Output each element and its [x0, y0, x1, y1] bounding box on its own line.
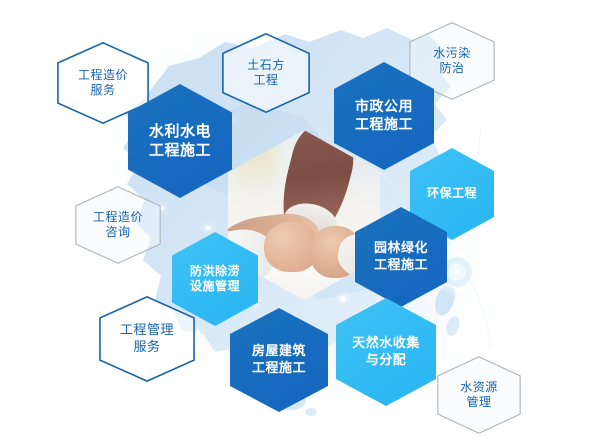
hexagon-label-line: 水资源 [460, 380, 498, 395]
hexagon-label-line: 水污染 [433, 46, 471, 61]
hexagon-label-line: 工程施工 [355, 116, 413, 134]
hexagon-shuiziyuan-guanli[interactable]: 水资源管理 [437, 356, 521, 434]
hexagon-label-line: 天然水收集 [352, 335, 420, 352]
hexagon-label-group: 工程管理服务 [120, 322, 174, 355]
hexagon-label-group: 房屋建筑工程施工 [252, 343, 306, 376]
hexagon-label-line: 设施管理 [190, 279, 240, 294]
hexagon-label-line: 咨询 [93, 225, 143, 240]
hexagon-label-line: 服务 [120, 339, 174, 356]
hexagon-label-line: 防洪除涝 [190, 264, 240, 279]
hexagon-label-line: 工程施工 [374, 257, 428, 274]
hexagon-label-line: 工程管理 [120, 322, 174, 339]
hexagon-label-group: 土石方工程 [247, 58, 285, 89]
hexagon-gongcheng-guanli-fuwu[interactable]: 工程管理服务 [99, 296, 195, 382]
hexagon-label-line: 环保工程 [427, 186, 477, 201]
hexagon-label-line: 园林绿化 [374, 240, 428, 257]
bokeh-dot [498, 122, 502, 126]
poster-canvas: 工程造价服务土石方工程水污染防治水利水电工程施工市政公用工程施工环保工程工程造价… [0, 0, 600, 439]
hexagon-tianranshui-shouji-yu-fenpei[interactable]: 天然水收集与分配 [336, 298, 436, 406]
bokeh-dot [206, 226, 210, 230]
hexagon-fangwu-jianzhu-gongcheng-shigong[interactable]: 房屋建筑工程施工 [230, 308, 328, 412]
hexagon-gongcheng-zaojia-zixun[interactable]: 工程造价咨询 [75, 186, 161, 264]
hexagon-label-line: 工程造价 [93, 210, 143, 225]
hexagon-label-group: 工程造价咨询 [93, 210, 143, 241]
hexagon-label-line: 管理 [460, 395, 498, 410]
bokeh-dot [468, 270, 472, 274]
hexagon-label-group: 水利水电工程施工 [149, 122, 211, 160]
hexagon-label-group: 环保工程 [427, 186, 477, 201]
hexagon-label-line: 土石方 [247, 58, 285, 73]
hexagon-label-group: 市政公用工程施工 [355, 98, 413, 134]
hexagon-label-group: 工程造价服务 [78, 68, 128, 99]
hexagon-label-group: 水污染防治 [433, 46, 471, 77]
hexagon-label-line: 工程施工 [149, 141, 211, 160]
hexagon-label-group: 水资源管理 [460, 380, 498, 411]
hexagon-label-line: 工程 [247, 73, 285, 88]
hexagon-label-line: 与分配 [352, 352, 420, 369]
hexagon-label-line: 工程施工 [252, 360, 306, 377]
hexagon-label-line: 防治 [433, 61, 471, 76]
hexagon-label-group: 防洪除涝设施管理 [190, 264, 240, 295]
hexagon-label-line: 市政公用 [355, 98, 413, 116]
hexagon-label-line: 房屋建筑 [252, 343, 306, 360]
hexagon-label-line: 水利水电 [149, 122, 211, 141]
hexagon-label-group: 天然水收集与分配 [352, 335, 420, 368]
hexagon-tushifang-gongcheng[interactable]: 土石方工程 [222, 33, 310, 113]
hexagon-label-line: 工程造价 [78, 68, 128, 83]
bokeh-dot [196, 330, 200, 334]
hexagon-label-line: 服务 [78, 83, 128, 98]
bokeh-dot [318, 408, 322, 412]
hexagon-label-group: 园林绿化工程施工 [374, 240, 428, 273]
bokeh-dot [340, 296, 346, 302]
